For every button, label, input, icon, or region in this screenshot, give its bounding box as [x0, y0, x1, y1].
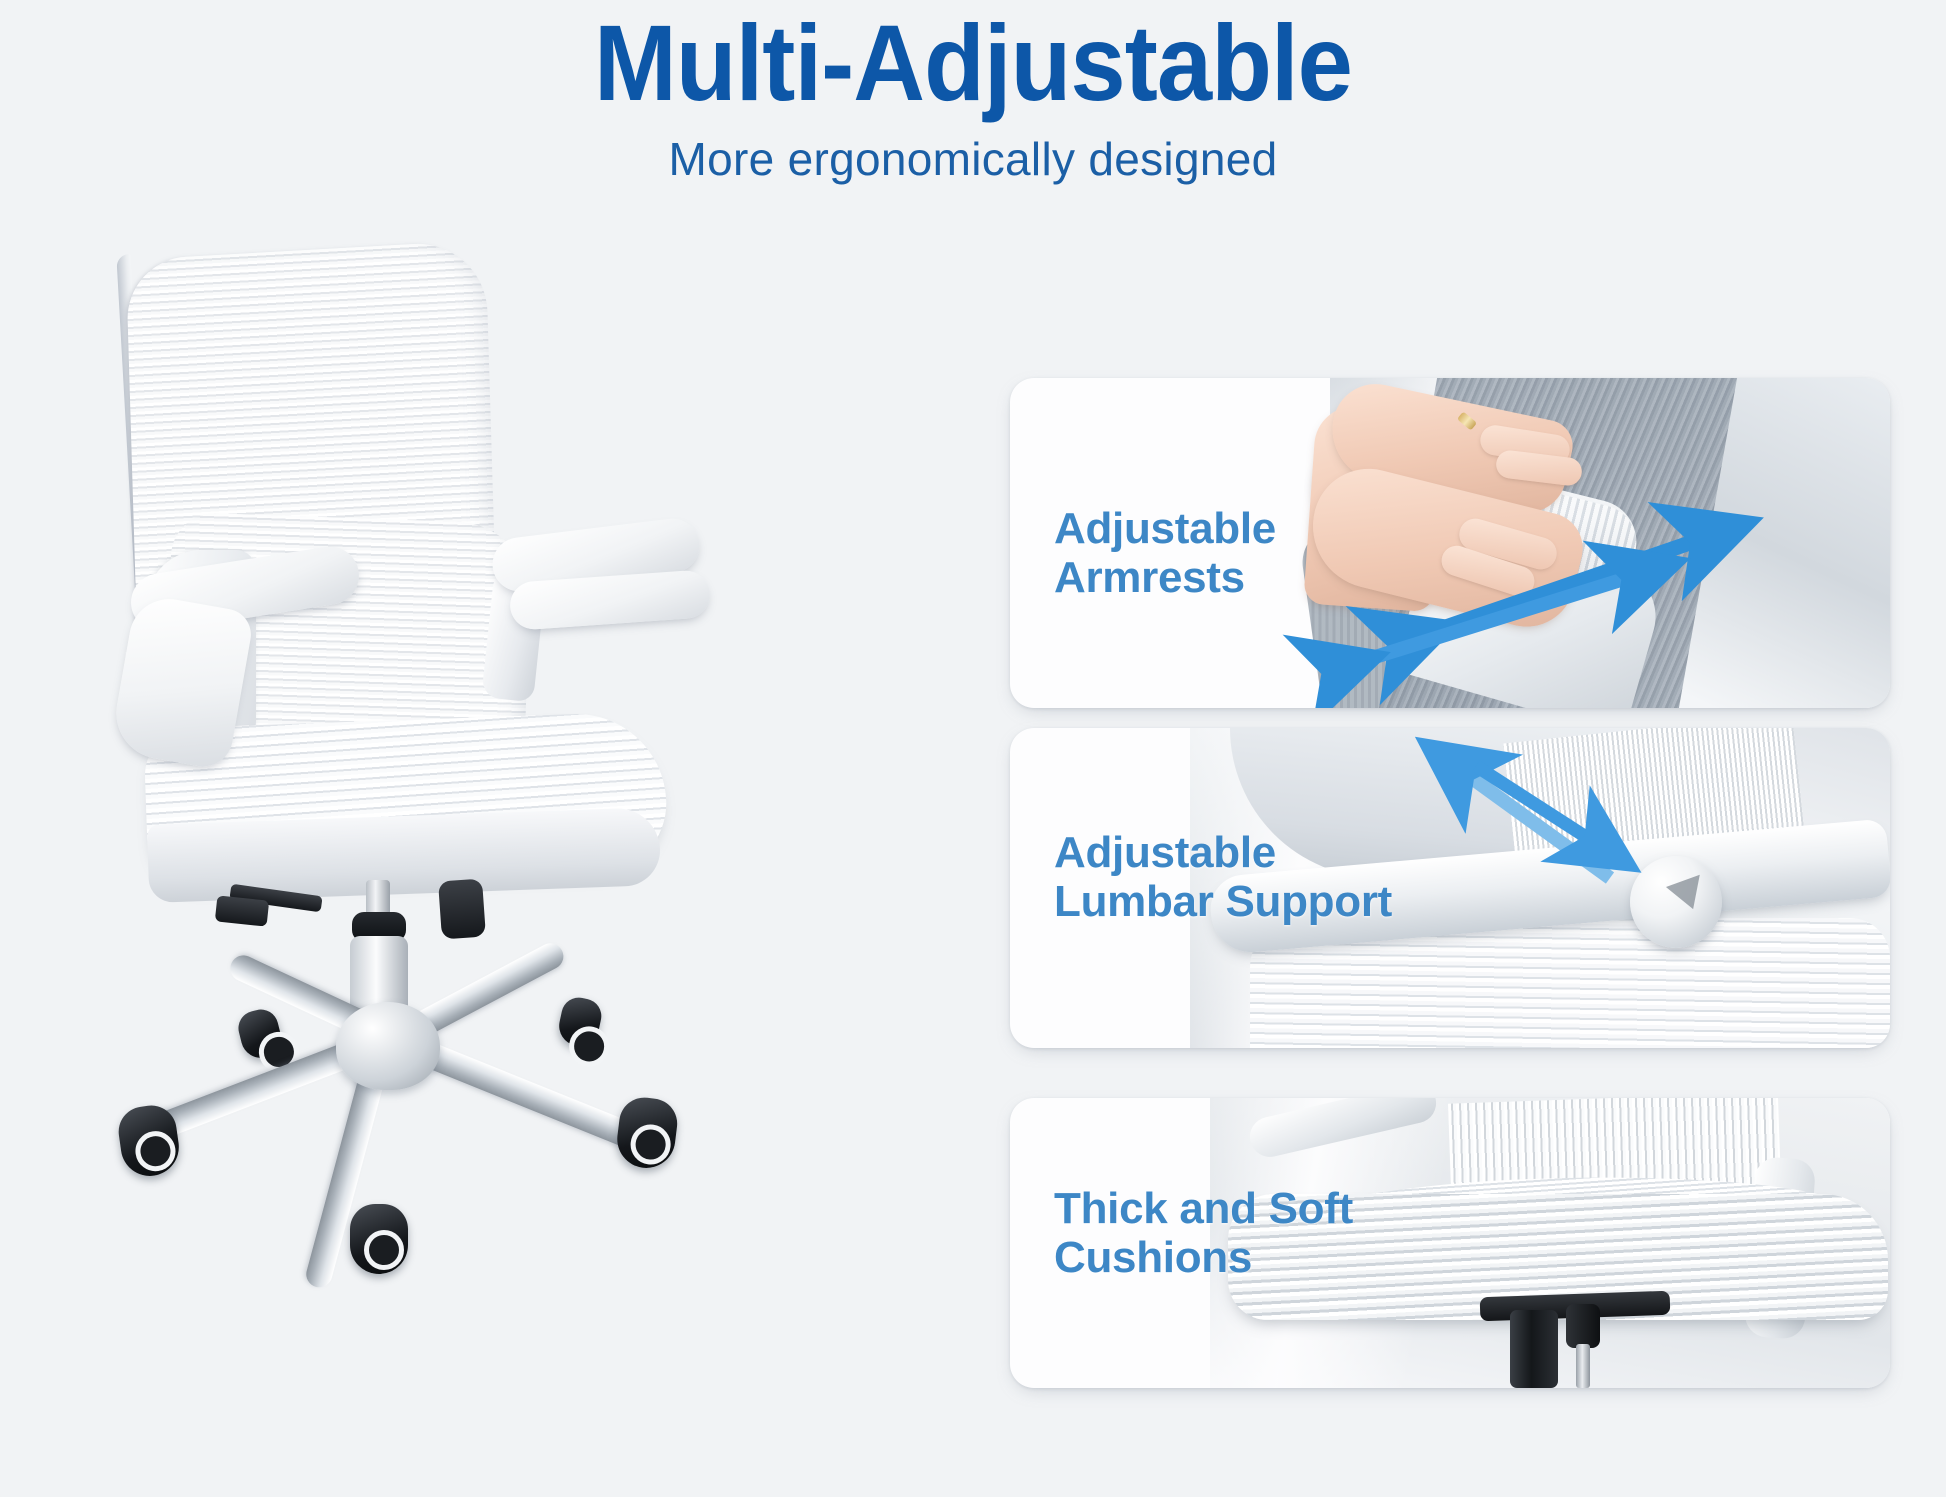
card-label-adjustable-armrests: Adjustable Armrests	[1054, 504, 1276, 603]
card-label-thick-and-soft-cushions: Thick and Soft Cushions	[1054, 1184, 1353, 1283]
feature-card-thick-and-soft-cushions[interactable]: Thick and Soft Cushions	[1010, 1098, 1890, 1388]
caster-wheel	[614, 1095, 680, 1172]
feature-card-adjustable-armrests[interactable]: Adjustable Armrests	[1010, 378, 1890, 708]
gas-lift-rod	[1576, 1344, 1590, 1388]
infographic-canvas: Multi-Adjustable More ergonomically desi…	[0, 0, 1946, 1497]
hero-chair-photo	[110, 250, 940, 1460]
gas-lift-column	[1510, 1310, 1558, 1388]
page-subtitle: More ergonomically designed	[0, 132, 1946, 186]
caster-wheel	[555, 994, 604, 1049]
height-lever	[438, 879, 486, 940]
seat-front-edge	[147, 807, 661, 903]
base-hub	[336, 1002, 440, 1090]
gas-lift-collar	[1566, 1304, 1600, 1348]
header: Multi-Adjustable More ergonomically desi…	[0, 0, 1946, 200]
tilt-lever-paddle	[215, 895, 269, 926]
caster-wheel	[350, 1204, 408, 1274]
caster-wheel	[235, 1006, 285, 1062]
feature-card-adjustable-lumbar-support[interactable]: Adjustable Lumbar Support	[1010, 728, 1890, 1048]
card-label-adjustable-lumbar-support: Adjustable Lumbar Support	[1054, 828, 1392, 927]
page-title: Multi-Adjustable	[78, 6, 1868, 119]
